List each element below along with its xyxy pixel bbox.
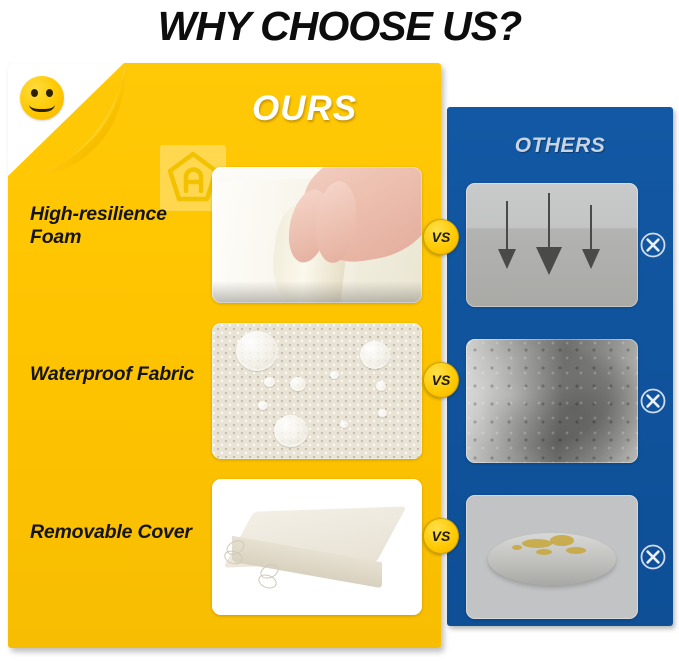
circle-x-icon <box>639 543 667 571</box>
peel-corner-curl <box>8 63 128 180</box>
circle-x-icon <box>639 231 667 259</box>
ours-panel: OURS High-resilience Foam <box>8 63 441 648</box>
ours-row-1-image <box>212 167 422 303</box>
vs-badge-row-3: VS <box>423 518 459 554</box>
vs-badge-row-1: VS <box>423 219 459 255</box>
smiley-face-icon <box>20 76 64 120</box>
others-row-1-image <box>466 183 638 307</box>
row-label-removable-cover: Removable Cover <box>30 521 216 544</box>
others-panel-title: OTHERS <box>447 134 673 158</box>
others-row-2-image <box>466 339 638 463</box>
ours-row-2-image <box>212 323 422 459</box>
row-label-waterproof-fabric: Waterproof Fabric <box>30 363 216 386</box>
page-title: WHY CHOOSE US? <box>0 2 679 50</box>
circle-x-icon <box>639 387 667 415</box>
others-panel: OTHERS <box>447 107 673 626</box>
ours-row-3-image <box>212 479 422 615</box>
ours-panel-title: OURS <box>252 89 357 129</box>
vs-badge-row-2: VS <box>423 362 459 398</box>
row-label-high-resilience-foam: High-resilience Foam <box>30 203 216 249</box>
others-row-3-image <box>466 495 638 619</box>
